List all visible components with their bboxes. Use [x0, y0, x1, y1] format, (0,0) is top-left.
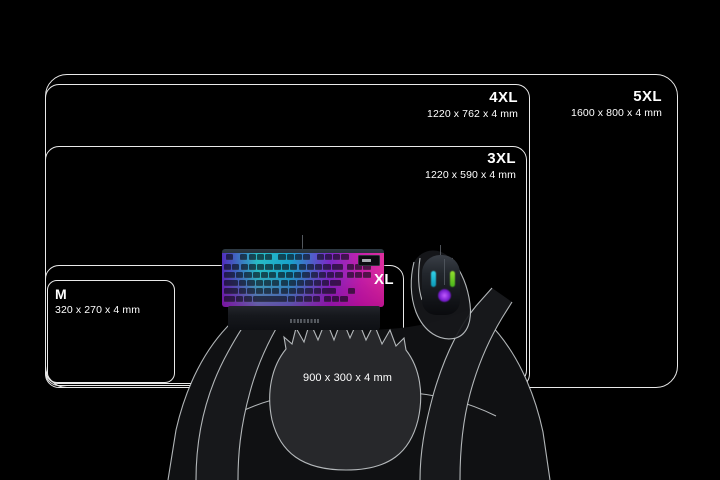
label-m-size: M — [55, 286, 175, 302]
label-xl-dimensions: 900 x 300 x 4 mm — [303, 372, 423, 385]
keyboard — [222, 249, 384, 331]
label-4xl: 4XL 1220 x 762 x 4 mm — [400, 89, 518, 120]
mouse-button-split — [444, 259, 445, 285]
label-5xl: 5XL 1600 x 800 x 4 mm — [538, 88, 662, 119]
label-xl-dimensions-wrap: 900 x 300 x 4 mm — [303, 370, 423, 385]
label-xl: XL — [374, 271, 414, 288]
mouse-cable — [440, 245, 441, 255]
label-3xl-dimensions: 1220 x 590 x 4 mm — [398, 169, 516, 181]
size-comparison-graphic: 5XL 1600 x 800 x 4 mm 4XL 1220 x 762 x 4… — [0, 0, 720, 480]
label-3xl-size: 3XL — [398, 150, 516, 167]
label-5xl-size: 5XL — [538, 88, 662, 105]
mouse-body — [422, 255, 460, 315]
brand-logo — [290, 319, 320, 323]
mouse-logo-led — [438, 289, 451, 302]
mouse — [418, 253, 464, 327]
keyboard-body — [222, 249, 384, 307]
keyboard-wrist-rest — [228, 306, 380, 330]
label-5xl-dimensions: 1600 x 800 x 4 mm — [538, 107, 662, 119]
keyboard-oled-display — [358, 255, 380, 266]
label-4xl-dimensions: 1220 x 762 x 4 mm — [400, 108, 518, 120]
label-3xl: 3XL 1220 x 590 x 4 mm — [398, 150, 516, 181]
label-m-dimensions: 320 x 270 x 4 mm — [55, 304, 175, 316]
label-4xl-size: 4XL — [400, 89, 518, 106]
mouse-led-left — [431, 271, 436, 287]
label-m: M 320 x 270 x 4 mm — [55, 286, 175, 316]
mouse-led-right — [450, 271, 455, 287]
label-xl-size: XL — [374, 271, 414, 288]
